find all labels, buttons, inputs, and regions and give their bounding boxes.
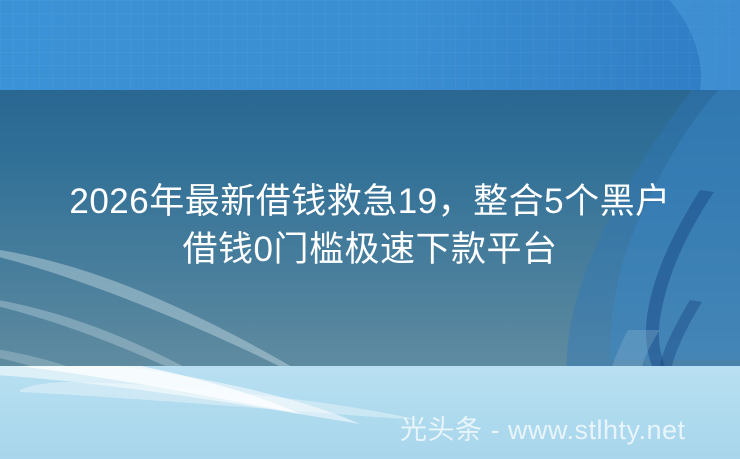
banner-title-line-1: 2026年最新借钱救急19，整合5个黑户 [0,178,740,226]
banner-title-line-2: 借钱0门槛极速下款平台 [0,226,740,274]
promo-banner: 2026年最新借钱救急19，整合5个黑户 借钱0门槛极速下款平台 光头条 - w… [0,0,740,459]
site-watermark: 光头条 - www.stlhty.net [400,414,686,446]
background-band-top [0,0,740,90]
banner-title: 2026年最新借钱救急19，整合5个黑户 借钱0门槛极速下款平台 [0,178,740,274]
